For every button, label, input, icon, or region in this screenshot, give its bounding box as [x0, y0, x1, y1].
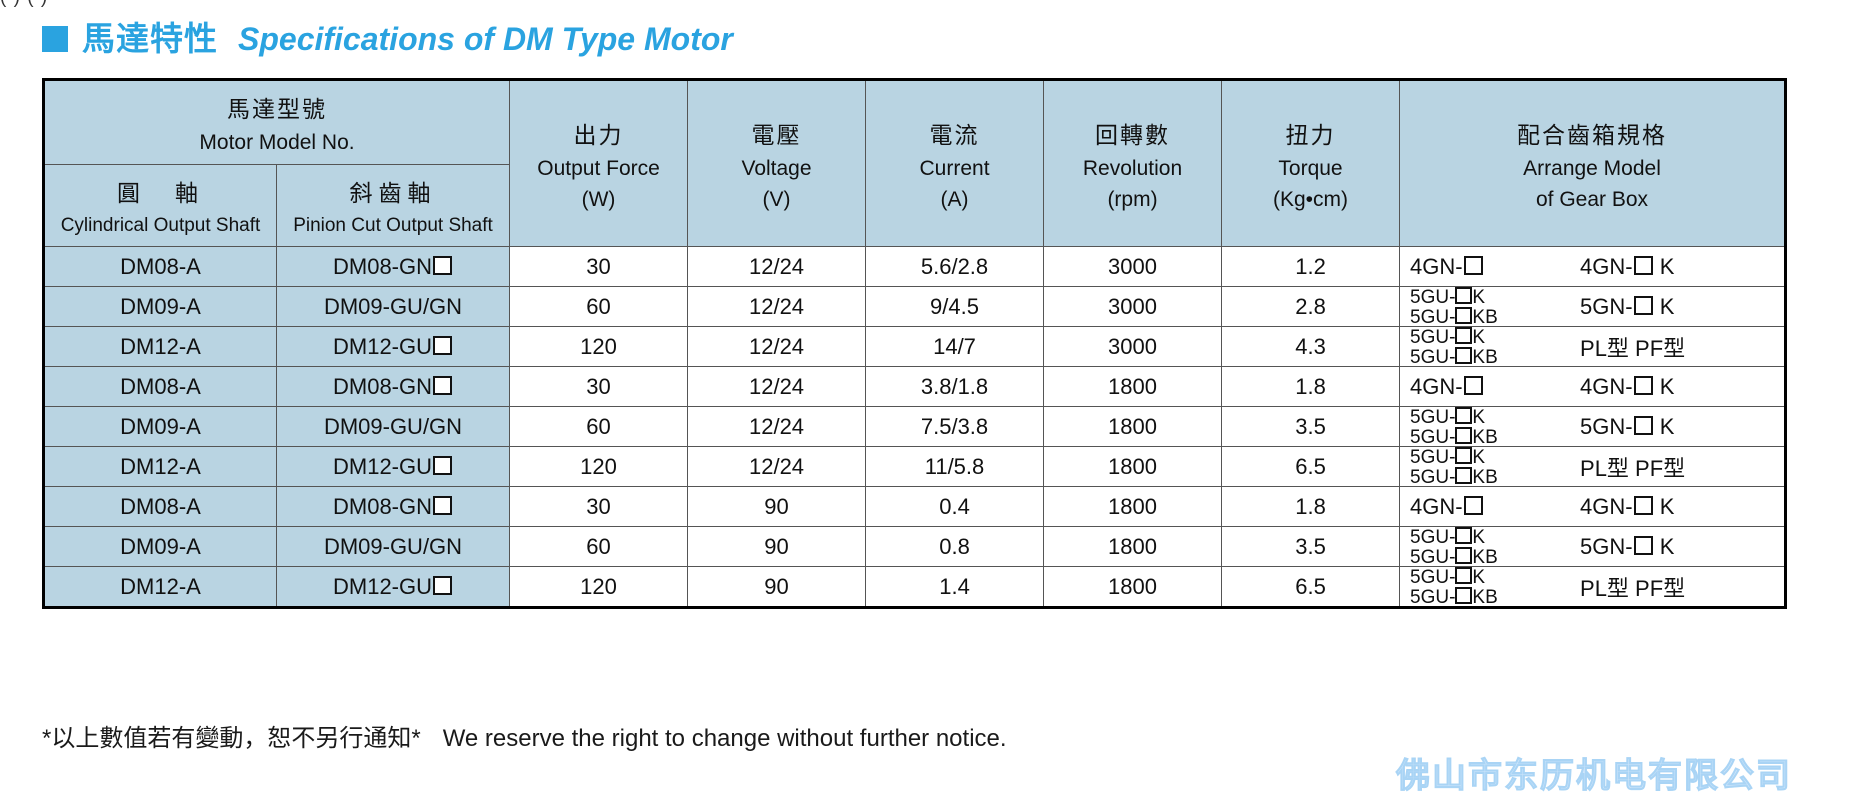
placeholder-square-icon [1455, 407, 1472, 424]
gearbox-model-right: 5GN- K [1580, 414, 1674, 440]
gearbox-model-right: 4GN- K [1580, 374, 1674, 400]
header-pinion-shaft-en: Pinion Cut Output Shaft [281, 215, 505, 237]
cell-cylindrical-shaft: DM12-A [44, 447, 277, 487]
header-voltage-unit: (V) [692, 188, 861, 212]
gearbox-model-right: PL型 PF型 [1580, 451, 1685, 483]
cell-gearbox: 5GU-K5GU-KBPL型 PF型 [1400, 327, 1786, 367]
footer-disclaimer: *以上數值若有變動，恕不另行通知*We reserve the right to… [42, 718, 1007, 753]
cell-cylindrical-shaft: DM08-A [44, 487, 277, 527]
cell-voltage: 12/24 [688, 367, 866, 407]
cell-current: 9/4.5 [866, 287, 1044, 327]
header-voltage-en: Voltage [692, 157, 861, 181]
page-title: 馬達特性 Specifications of DM Type Motor [42, 22, 733, 55]
cell-revolution: 1800 [1044, 527, 1222, 567]
placeholder-square-icon [1455, 567, 1472, 584]
placeholder-square-icon [1455, 287, 1472, 304]
cell-voltage: 12/24 [688, 327, 866, 367]
table-row: DM12-ADM12-GU12012/2411/5.818006.55GU-K5… [44, 447, 1786, 487]
cell-gearbox: 5GU-K5GU-KB5GN- K [1400, 527, 1786, 567]
placeholder-square-icon [433, 336, 452, 355]
specifications-table: 馬達型號 Motor Model No. 出力 Output Force (W)… [42, 78, 1787, 609]
placeholder-square-icon [433, 256, 452, 275]
gearbox-model-right: PL型 PF型 [1580, 331, 1685, 363]
cell-cylindrical-shaft: DM08-A [44, 247, 277, 287]
header-pinion-shaft: 斜齒軸 Pinion Cut Output Shaft [277, 165, 510, 247]
specifications-table-container: 馬達型號 Motor Model No. 出力 Output Force (W)… [42, 78, 1784, 609]
placeholder-square-icon [1455, 547, 1472, 564]
cell-pinion-shaft: DM09-GU/GN [277, 287, 510, 327]
table-row: DM08-ADM08-GN3012/243.8/1.818001.84GN-4G… [44, 367, 1786, 407]
cell-current: 5.6/2.8 [866, 247, 1044, 287]
placeholder-square-icon [1634, 496, 1653, 515]
cell-gearbox: 4GN-4GN- K [1400, 487, 1786, 527]
header-voltage-cn: 電壓 [692, 116, 861, 150]
cell-voltage: 12/24 [688, 247, 866, 287]
header-gearbox-cn: 配合齒箱規格 [1404, 116, 1780, 150]
header-output-force: 出力 Output Force (W) [510, 80, 688, 247]
cell-revolution: 3000 [1044, 287, 1222, 327]
cell-current: 7.5/3.8 [866, 407, 1044, 447]
header-voltage: 電壓 Voltage (V) [688, 80, 866, 247]
cell-current: 1.4 [866, 567, 1044, 608]
cell-output-force: 60 [510, 287, 688, 327]
header-motor-model-group: 馬達型號 Motor Model No. [44, 80, 510, 165]
header-revolution-unit: (rpm) [1048, 188, 1217, 212]
placeholder-square-icon [1634, 376, 1653, 395]
header-torque: 扭力 Torque (Kg•cm) [1222, 80, 1400, 247]
cell-revolution: 3000 [1044, 247, 1222, 287]
placeholder-square-icon [433, 456, 452, 475]
cell-cylindrical-shaft: DM09-A [44, 407, 277, 447]
table-row: DM12-ADM12-GU12012/2414/730004.35GU-K5GU… [44, 327, 1786, 367]
header-cylindrical-shaft-en: Cylindrical Output Shaft [49, 215, 272, 237]
cell-cylindrical-shaft: DM12-A [44, 327, 277, 367]
cell-pinion-shaft: DM09-GU/GN [277, 407, 510, 447]
cell-cylindrical-shaft: DM09-A [44, 287, 277, 327]
header-motor-model-en: Motor Model No. [49, 131, 505, 155]
header-pinion-shaft-cn: 斜齒軸 [281, 174, 505, 208]
cell-output-force: 30 [510, 367, 688, 407]
placeholder-square-icon [433, 376, 452, 395]
page-title-en: Specifications of DM Type Motor [238, 23, 733, 55]
table-row: DM08-ADM08-GN30900.418001.84GN-4GN- K [44, 487, 1786, 527]
cell-pinion-shaft: DM08-GN [277, 367, 510, 407]
placeholder-square-icon [1455, 327, 1472, 344]
cell-voltage: 90 [688, 487, 866, 527]
table-body: DM08-ADM08-GN3012/245.6/2.830001.24GN-4G… [44, 247, 1786, 608]
header-current-en: Current [870, 157, 1039, 181]
cell-voltage: 90 [688, 527, 866, 567]
cell-voltage: 90 [688, 567, 866, 608]
gearbox-model-left: 5GU-K5GU-KB [1410, 447, 1562, 487]
header-torque-cn: 扭力 [1226, 116, 1395, 150]
cell-revolution: 1800 [1044, 367, 1222, 407]
cell-current: 0.8 [866, 527, 1044, 567]
cell-revolution: 1800 [1044, 487, 1222, 527]
top-cropped-text-label: ( ) ( ) [0, 0, 48, 8]
gearbox-model-right: PL型 PF型 [1580, 571, 1685, 603]
placeholder-square-icon [1634, 256, 1653, 275]
gearbox-model-left: 5GU-K5GU-KB [1410, 287, 1562, 327]
table-row: DM09-ADM09-GU/GN60900.818003.55GU-K5GU-K… [44, 527, 1786, 567]
cell-output-force: 60 [510, 527, 688, 567]
gearbox-model-right: 5GN- K [1580, 294, 1674, 320]
header-current-unit: (A) [870, 188, 1039, 212]
gearbox-model-left: 5GU-K5GU-KB [1410, 327, 1562, 367]
company-watermark: 佛山市东历机电有限公司 [1396, 748, 1792, 797]
header-cylindrical-shaft: 圓 軸 Cylindrical Output Shaft [44, 165, 277, 247]
placeholder-square-icon [1464, 496, 1483, 515]
placeholder-square-icon [1455, 427, 1472, 444]
cell-current: 11/5.8 [866, 447, 1044, 487]
cell-current: 3.8/1.8 [866, 367, 1044, 407]
cell-cylindrical-shaft: DM08-A [44, 367, 277, 407]
cell-gearbox: 4GN-4GN- K [1400, 367, 1786, 407]
cell-torque: 4.3 [1222, 327, 1400, 367]
cell-pinion-shaft: DM12-GU [277, 567, 510, 608]
table-header: 馬達型號 Motor Model No. 出力 Output Force (W)… [44, 80, 1786, 247]
square-bullet-icon [42, 26, 68, 52]
header-gearbox: 配合齒箱規格 Arrange Model of Gear Box [1400, 80, 1786, 247]
table-row: DM09-ADM09-GU/GN6012/249/4.530002.85GU-K… [44, 287, 1786, 327]
cell-revolution: 1800 [1044, 407, 1222, 447]
cell-pinion-shaft: DM09-GU/GN [277, 527, 510, 567]
cell-cylindrical-shaft: DM09-A [44, 527, 277, 567]
cell-torque: 6.5 [1222, 567, 1400, 608]
cell-torque: 3.5 [1222, 407, 1400, 447]
header-output-force-en: Output Force [514, 157, 683, 181]
gearbox-model-right: 4GN- K [1580, 494, 1674, 520]
cell-voltage: 12/24 [688, 287, 866, 327]
placeholder-square-icon [1455, 307, 1472, 324]
cell-current: 0.4 [866, 487, 1044, 527]
placeholder-square-icon [1464, 256, 1483, 275]
cell-voltage: 12/24 [688, 407, 866, 447]
placeholder-square-icon [1634, 536, 1653, 555]
table-row: DM09-ADM09-GU/GN6012/247.5/3.818003.55GU… [44, 407, 1786, 447]
table-row: DM12-ADM12-GU120901.418006.55GU-K5GU-KBP… [44, 567, 1786, 608]
cell-current: 14/7 [866, 327, 1044, 367]
cell-cylindrical-shaft: DM12-A [44, 567, 277, 608]
gearbox-model-left: 5GU-K5GU-KB [1410, 567, 1562, 607]
placeholder-square-icon [1455, 527, 1472, 544]
cell-torque: 2.8 [1222, 287, 1400, 327]
cell-gearbox: 4GN-4GN- K [1400, 247, 1786, 287]
footer-disclaimer-cn: *以上數值若有變動，恕不另行通知* [42, 725, 421, 752]
placeholder-square-icon [1455, 347, 1472, 364]
gearbox-model-left: 4GN- [1410, 376, 1562, 398]
header-current-cn: 電流 [870, 116, 1039, 150]
header-cylindrical-shaft-cn: 圓 軸 [49, 174, 272, 208]
cell-revolution: 1800 [1044, 567, 1222, 608]
cell-voltage: 12/24 [688, 447, 866, 487]
cell-gearbox: 5GU-K5GU-KBPL型 PF型 [1400, 567, 1786, 608]
cell-output-force: 120 [510, 447, 688, 487]
cell-output-force: 30 [510, 487, 688, 527]
cell-pinion-shaft: DM08-GN [277, 247, 510, 287]
top-cropped-text: ( ) ( ) [0, 0, 1864, 12]
header-gearbox-en1: Arrange Model [1404, 157, 1780, 181]
cell-torque: 3.5 [1222, 527, 1400, 567]
page-title-cn: 馬達特性 [82, 22, 218, 55]
cell-revolution: 3000 [1044, 327, 1222, 367]
header-gearbox-en2: of Gear Box [1404, 188, 1780, 212]
header-current: 電流 Current (A) [866, 80, 1044, 247]
placeholder-square-icon [1634, 296, 1653, 315]
cell-gearbox: 5GU-K5GU-KB5GN- K [1400, 407, 1786, 447]
header-output-force-unit: (W) [514, 188, 683, 212]
cell-gearbox: 5GU-K5GU-KBPL型 PF型 [1400, 447, 1786, 487]
cell-revolution: 1800 [1044, 447, 1222, 487]
gearbox-model-left: 4GN- [1410, 256, 1562, 278]
gearbox-model-right: 4GN- K [1580, 254, 1674, 280]
placeholder-square-icon [433, 496, 452, 515]
placeholder-square-icon [1464, 376, 1483, 395]
cell-pinion-shaft: DM08-GN [277, 487, 510, 527]
gearbox-model-left: 5GU-K5GU-KB [1410, 407, 1562, 447]
header-torque-en: Torque [1226, 157, 1395, 181]
header-output-force-cn: 出力 [514, 116, 683, 150]
gearbox-model-right: 5GN- K [1580, 534, 1674, 560]
gearbox-model-left: 4GN- [1410, 496, 1562, 518]
cell-output-force: 30 [510, 247, 688, 287]
cell-pinion-shaft: DM12-GU [277, 327, 510, 367]
cell-output-force: 120 [510, 567, 688, 608]
placeholder-square-icon [1455, 467, 1472, 484]
cell-pinion-shaft: DM12-GU [277, 447, 510, 487]
gearbox-model-left: 5GU-K5GU-KB [1410, 527, 1562, 567]
header-revolution: 回轉數 Revolution (rpm) [1044, 80, 1222, 247]
cell-torque: 1.8 [1222, 367, 1400, 407]
cell-torque: 1.2 [1222, 247, 1400, 287]
placeholder-square-icon [1455, 587, 1472, 604]
cell-gearbox: 5GU-K5GU-KB5GN- K [1400, 287, 1786, 327]
cell-output-force: 60 [510, 407, 688, 447]
header-revolution-en: Revolution [1048, 157, 1217, 181]
cell-torque: 6.5 [1222, 447, 1400, 487]
cell-output-force: 120 [510, 327, 688, 367]
header-motor-model-cn: 馬達型號 [49, 90, 505, 124]
header-revolution-cn: 回轉數 [1048, 116, 1217, 150]
placeholder-square-icon [1634, 416, 1653, 435]
placeholder-square-icon [1455, 447, 1472, 464]
header-torque-unit: (Kg•cm) [1226, 188, 1395, 212]
placeholder-square-icon [433, 576, 452, 595]
table-row: DM08-ADM08-GN3012/245.6/2.830001.24GN-4G… [44, 247, 1786, 287]
footer-disclaimer-en: We reserve the right to change without f… [443, 725, 1007, 752]
cell-torque: 1.8 [1222, 487, 1400, 527]
